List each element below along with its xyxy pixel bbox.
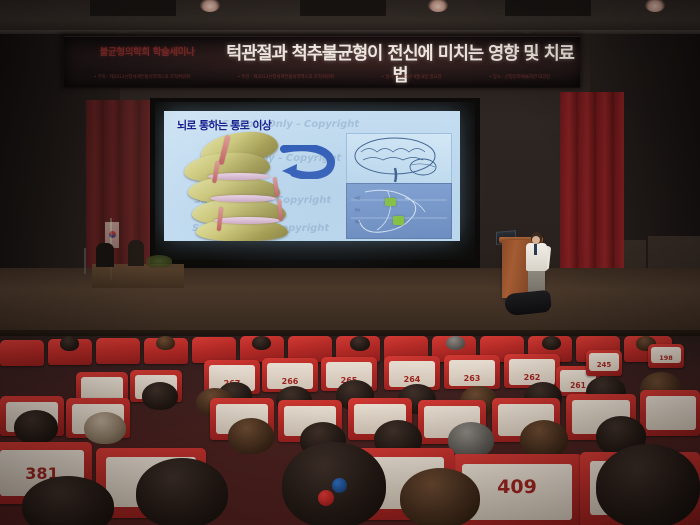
ceiling-panel <box>505 0 591 16</box>
seat <box>0 340 44 366</box>
seat-back-pad <box>646 396 696 430</box>
audience-head <box>350 336 370 351</box>
diagram-label: 연수 <box>355 208 361 212</box>
audience-head <box>84 412 126 444</box>
stage-curtain-right <box>560 92 624 292</box>
audience-head <box>446 336 465 350</box>
seated-person-on-stage <box>96 243 114 267</box>
ceiling-downlight <box>428 0 448 12</box>
audience-head <box>252 336 271 350</box>
intervertebral-disc <box>210 195 276 202</box>
seat-number: 264 <box>384 375 440 384</box>
intervertebral-disc <box>214 217 280 224</box>
brain-sagittal-diagram <box>346 133 452 185</box>
event-banner: 불균형의학회 학술세미나 턱관절과 척추불균형이 전신에 미치는 영향 및 치료… <box>64 36 580 88</box>
cranial-base-diagram: 뇌간 연수 척수 <box>346 183 452 239</box>
audience-head <box>142 382 178 410</box>
audience-head <box>542 336 561 350</box>
highlight-marker <box>393 216 404 225</box>
audience-head <box>14 410 58 444</box>
seat-number: 245 <box>586 361 622 369</box>
banner-fineprint-venue: • 장소 : 산청문화예술회관 대강당 <box>489 74 550 80</box>
speaker-face <box>532 236 540 244</box>
seat <box>96 338 140 364</box>
speaker-tie <box>534 244 537 255</box>
audience-head <box>520 420 568 458</box>
audience-head-foreground <box>400 468 480 525</box>
ceiling-downlight <box>200 0 220 12</box>
seated-person-on-stage <box>128 240 144 266</box>
blue-arrow-icon <box>280 145 338 179</box>
audience-head <box>60 336 79 351</box>
banner-fineprint-date: • 일시 : 2013년 9월 8일 일요일 <box>381 74 441 80</box>
banner-subtitle: 불균형의학회 학술세미나 <box>72 48 222 58</box>
audience-seating: 267 266 265 264 263 262 261 245 <box>0 336 700 525</box>
banner-fine-print: • 주최 : 제2013산청세계전통의약엑스포 조직위원회 • 주관 : 제20… <box>70 74 574 80</box>
seat-number: 198 <box>648 354 684 362</box>
diagram-label: 척수 <box>355 220 361 224</box>
stage-microphone-stand <box>84 248 86 274</box>
ceiling-panel <box>90 0 176 16</box>
seat-number: 263 <box>444 374 500 383</box>
auditorium-photo: 불균형의학회 학술세미나 턱관절과 척추불균형이 전신에 미치는 영향 및 치료… <box>0 0 700 525</box>
banner-fineprint-organizer: • 주관 : 제2013산청세계전통의약엑스포 조직위원회 <box>238 74 334 80</box>
audience-head-foreground <box>136 458 228 525</box>
slide-title: 뇌로 통하는 통로 이상 <box>177 117 271 133</box>
banner-fineprint-host: • 주최 : 제2013산청세계전통의약엑스포 조직위원회 <box>94 74 190 80</box>
presentation-slide: Sample Only - Copyright Sample Only - Co… <box>164 111 460 241</box>
audience-head-foreground <box>596 444 700 525</box>
audience-head <box>156 336 175 350</box>
diagram-label: 뇌간 <box>355 196 361 200</box>
audience-head <box>228 418 274 454</box>
audience-head-foreground <box>282 442 386 525</box>
taeguk-symbol <box>109 231 116 238</box>
seat-number: 266 <box>262 377 318 386</box>
stage-side-table <box>92 264 184 288</box>
table-flower-arrangement <box>146 255 172 267</box>
ceiling-downlight <box>645 0 665 12</box>
projection-screen: Sample Only - Copyright Sample Only - Co… <box>155 102 475 260</box>
ceiling-panel <box>300 0 386 16</box>
hair-bead-blue <box>332 478 347 493</box>
hair-bead-red <box>318 490 334 506</box>
seat <box>444 355 500 389</box>
audience-head <box>448 422 494 458</box>
seat-number: 262 <box>504 373 560 382</box>
banner-title: 턱관절과 척추불균형이 전신에 미치는 영향 및 치료법 <box>224 44 576 88</box>
seat <box>640 390 700 436</box>
highlight-marker <box>385 198 396 206</box>
